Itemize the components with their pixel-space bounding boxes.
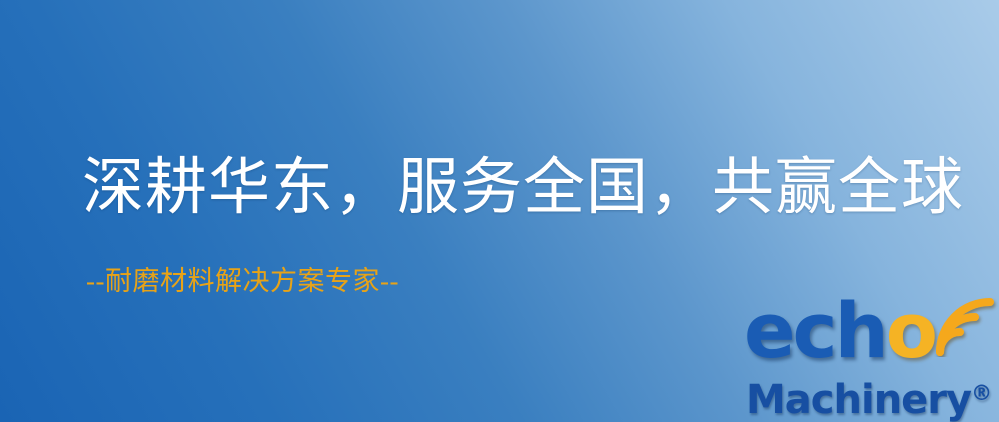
promotional-banner: 深耕华东，服务全国，共赢全球 --耐磨材料解决方案专家-- echo Machi… (0, 0, 999, 422)
logo-machinery-label: Machinery (746, 377, 971, 422)
company-logo: echo Machinery® (742, 296, 999, 422)
logo-wordmark: echo (742, 296, 999, 378)
logo-product-line: Machinery® (746, 370, 992, 422)
signal-waves-icon (926, 295, 998, 357)
banner-subtitle: --耐磨材料解决方案专家-- (86, 265, 399, 297)
logo-brand-name: echo (744, 290, 935, 372)
logo-brand-prefix: ech (744, 286, 886, 375)
registered-trademark-icon: ® (971, 381, 992, 405)
banner-headline: 深耕华东，服务全国，共赢全球 (82, 152, 964, 224)
